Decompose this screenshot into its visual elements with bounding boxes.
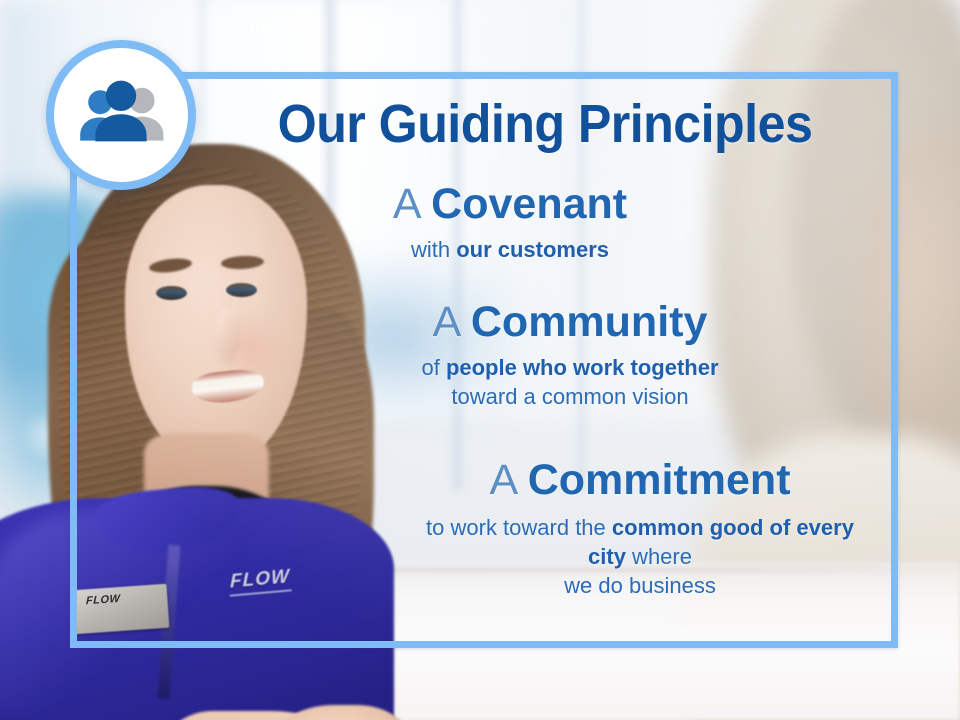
principle-subtext-bold: people who work together <box>446 355 719 380</box>
principle-subtext: to work toward the common good of every … <box>420 513 860 600</box>
principle-article: A <box>393 180 419 228</box>
principle-covenant: A Covenant with our customers <box>300 182 720 264</box>
principle-subtext-post: where <box>626 544 692 569</box>
principle-keyword: Covenant <box>431 180 627 228</box>
principle-commitment: A Commitment to work toward the common g… <box>420 458 860 600</box>
principle-subtext: with our customers <box>300 235 720 264</box>
principle-subtext-pre: of <box>421 355 445 380</box>
principle-community: A Community of people who work together … <box>360 300 780 411</box>
page-title: Our Guiding Principles <box>238 97 852 152</box>
people-group-icon <box>73 76 169 154</box>
principle-keyword: Community <box>471 298 708 346</box>
principle-subtext-bold: our customers <box>456 237 609 262</box>
principle-heading: A Community <box>360 300 780 345</box>
principle-subtext-line2: toward a common vision <box>360 382 780 411</box>
principle-subtext-line2: we do business <box>420 571 860 600</box>
principle-subtext-pre: to work toward the <box>426 515 612 540</box>
principle-subtext-pre: with <box>411 237 456 262</box>
principle-keyword: Commitment <box>528 456 791 504</box>
people-badge-circle <box>46 40 196 190</box>
principle-heading: A Covenant <box>300 182 720 227</box>
principle-heading: A Commitment <box>420 458 860 503</box>
principle-article: A <box>433 298 459 346</box>
promo-banner: FLOW FLOW Our Guiding Principles <box>0 0 960 720</box>
principle-subtext: of people who work together toward a com… <box>360 353 780 411</box>
principle-article: A <box>489 456 515 504</box>
